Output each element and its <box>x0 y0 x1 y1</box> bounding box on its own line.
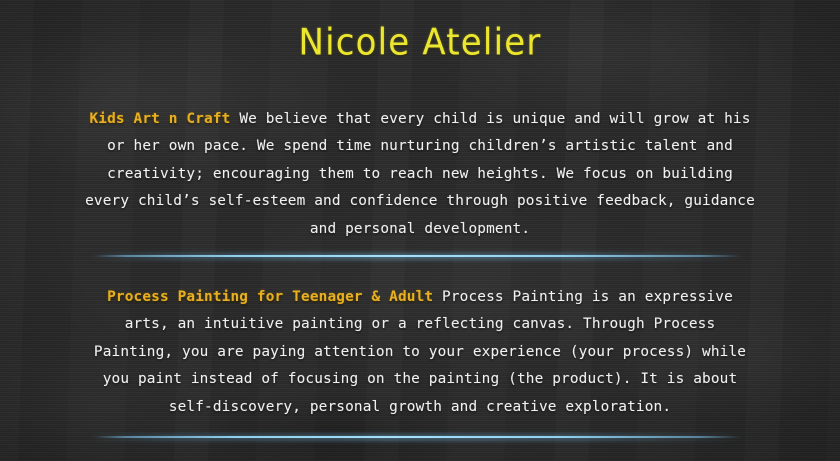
page-title: Nicole Atelier <box>0 21 840 66</box>
chalk-divider-2-core <box>94 436 740 438</box>
chalk-divider-1 <box>94 253 740 260</box>
chalk-divider-2 <box>94 434 740 441</box>
chalkboard-page: Nicole Atelier Kids Art n Craft We belie… <box>0 0 840 461</box>
section-kids-art-n-craft: Kids Art n Craft We believe that every c… <box>84 106 756 243</box>
section-heading-process-painting: Process Painting for Teenager & Adult <box>107 289 433 305</box>
chalk-divider-1-glow <box>86 253 748 260</box>
section-body-process-painting: Process Painting is an expressive arts, … <box>94 289 746 415</box>
section-body-kids-art-n-craft: We believe that every child is unique an… <box>85 111 755 237</box>
section-process-painting: Process Painting for Teenager & Adult Pr… <box>84 284 756 421</box>
section-heading-kids-art-n-craft: Kids Art n Craft <box>89 111 230 127</box>
page-content: Nicole Atelier Kids Art n Craft We belie… <box>0 0 840 461</box>
chalk-divider-1-core <box>94 255 740 257</box>
chalk-divider-2-glow <box>86 434 748 441</box>
